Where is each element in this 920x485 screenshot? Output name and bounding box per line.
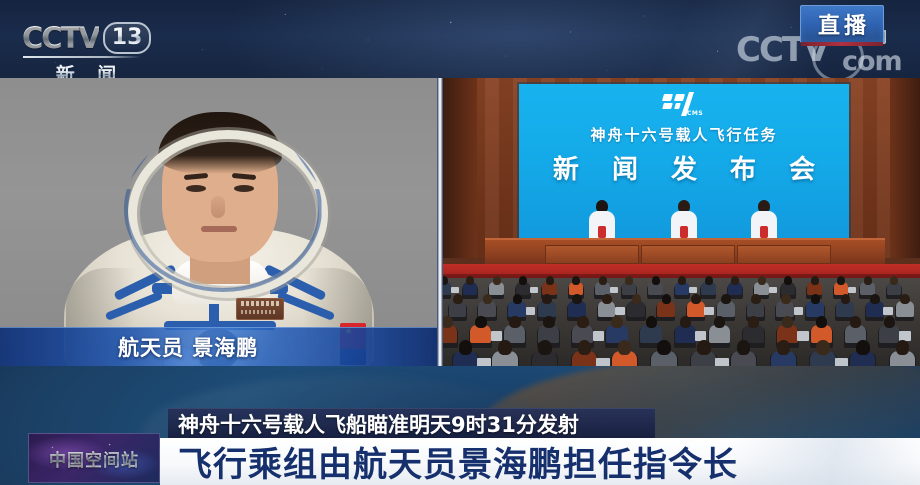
channel-header-bar: CCTV 13 新 闻 CCTV 央视网 com 直播 [0,0,920,80]
headline-secondary-bar: 神舟十六号载人飞船瞄准明天9时31分发射 [168,408,655,439]
audience-member-head [466,276,474,285]
astronaut-portrait: ★ [54,78,384,366]
audience-member-head [777,340,791,355]
channel-number: 13 [112,26,143,49]
audience-member-head [572,294,582,304]
audience-member-head [691,294,701,304]
audience-member-head [509,316,520,328]
audience-member-head [864,276,872,285]
audience-laptop [883,307,893,315]
press-conference-video-panel: CMS 神舟十六号载人飞行任务 新 闻 发 布 会 [443,78,920,366]
audience-member-head [625,276,633,285]
audience-laptop [794,307,804,315]
cctv-wordmark: CCTV [22,23,99,53]
panelist-nameplate [598,226,606,238]
audience-member-head [714,316,725,328]
audience-member-head [599,276,607,285]
cctv13-logo: CCTV 13 新 闻 [22,22,162,74]
audience-member-head [837,276,845,285]
audience-laptop [615,307,625,315]
astronaut-name-label: 航天员 景海鹏 [118,332,258,362]
astronaut-video-panel: ★ 航天员 景海鹏 [0,78,437,366]
audience-laptop [593,331,604,340]
astronaut-name-band: 航天员 景海鹏 [0,327,437,366]
hall-wall-shadow-left [443,78,477,258]
audience-member-head [546,276,554,285]
cctv-com-suffix: com [842,46,902,77]
audience-laptop [610,287,618,294]
audience-member-head [513,294,523,304]
cms-logo-icon: CMS [661,92,707,120]
audience-member-head [538,340,552,355]
audience-laptop [491,331,502,340]
audience-member-head [751,294,761,304]
audience-laptop [689,287,697,294]
broadcast-screen: CCTV 13 新 闻 CCTV 央视网 com 直播 [0,0,920,485]
audience-laptop [797,331,808,340]
headline-secondary-text: 神舟十六号载人飞船瞄准明天9时31分发射 [178,409,579,439]
audience-laptop [704,307,714,315]
audience-member-head [475,316,486,328]
conference-table [485,238,885,266]
audience-member-head [870,294,880,304]
name-patch [236,298,284,320]
audience-member-head [781,294,791,304]
audience-member-head [900,294,910,304]
audience-member-head [652,276,660,285]
live-badge: 直播 [800,5,884,43]
audience-member-head [611,316,622,328]
audience-laptop [848,287,856,294]
audience-member-head [890,276,898,285]
video-area: ★ 航天员 景海鹏 CMS 神舟十六号 [0,78,920,366]
audience-member-head [493,276,501,285]
audience-member-head [896,340,910,355]
audience-member-head [443,316,453,328]
cctv-logo-underline [23,56,141,58]
name-patch-line-chinese [241,301,279,306]
cms-logo-bar [662,103,673,109]
hall-wall-shadow-right [890,78,920,258]
audience-member-head [816,340,830,355]
audience-laptop [715,358,729,366]
audience-member-head [850,316,861,328]
led-mission-title: 神舟十六号载人飞行任务 [519,124,849,145]
audience-member-head [697,340,711,355]
cms-logo-bar [674,94,685,101]
audience-member-head [459,340,473,355]
live-badge-label: 直播 [814,8,870,40]
audience-laptop [477,358,491,366]
audience-member-head [758,276,766,285]
audience-member-head [519,276,527,285]
audience-laptop [835,358,849,366]
led-event-title: 新 闻 发 布 会 [519,149,849,186]
program-logo-china-space-station: 中国空间站 [28,433,160,483]
audience-member-head [816,316,827,328]
audience-member-head [602,294,612,304]
audience-member-head [542,294,552,304]
audience-member-head [811,276,819,285]
audience-member-head [657,340,671,355]
audience-member-head [646,316,657,328]
audience-member-head [884,316,895,328]
audience-member-head [578,340,592,355]
audience-member-head [737,340,751,355]
audience-member-head [748,316,759,328]
headline-primary-text: 飞行乘组由航天员景海鹏担任指令长 [178,437,738,485]
audience-laptop [769,287,777,294]
audience-member-head [453,294,463,304]
panelists-row [519,196,849,244]
panelist-nameplate [760,226,768,238]
table-front-panel [737,245,831,264]
program-logo-label: 中国空间站 [49,446,139,471]
audience-member-head [782,316,793,328]
audience-member-head [784,276,792,285]
cms-logo-bar [662,94,673,101]
cms-logo-bar [674,103,681,109]
audience-member-head [662,294,672,304]
cms-logo-text: CMS [687,110,703,117]
table-front-panel [545,245,639,264]
audience-member-head [731,276,739,285]
name-patch-line-pinyin [241,310,277,314]
audience-member-head [572,276,580,285]
audience-member-head [483,294,493,304]
audience-member-head [443,276,448,285]
audience-member-head [680,316,691,328]
audience-member-head [856,340,870,355]
audience-member-head [841,294,851,304]
audience-laptop [530,287,538,294]
audience-member-head [618,340,632,355]
panelist-nameplate [680,226,688,238]
audience-member-head [498,340,512,355]
audience-member-head [705,276,713,285]
audience-member-head [577,316,588,328]
audience-laptop [596,358,610,366]
channel-number-capsule: 13 [103,22,152,54]
audience-laptop [526,307,536,315]
cctv13-logo-row: CCTV 13 [22,22,162,54]
audience-member-head [678,276,686,285]
headline-primary-bar: 飞行乘组由航天员景海鹏担任指令长 [160,438,920,485]
audience-member-head [811,294,821,304]
audience-member-head [721,294,731,304]
audience-member-head [543,316,554,328]
table-front-panel [641,245,735,264]
audience-laptop [451,287,459,294]
